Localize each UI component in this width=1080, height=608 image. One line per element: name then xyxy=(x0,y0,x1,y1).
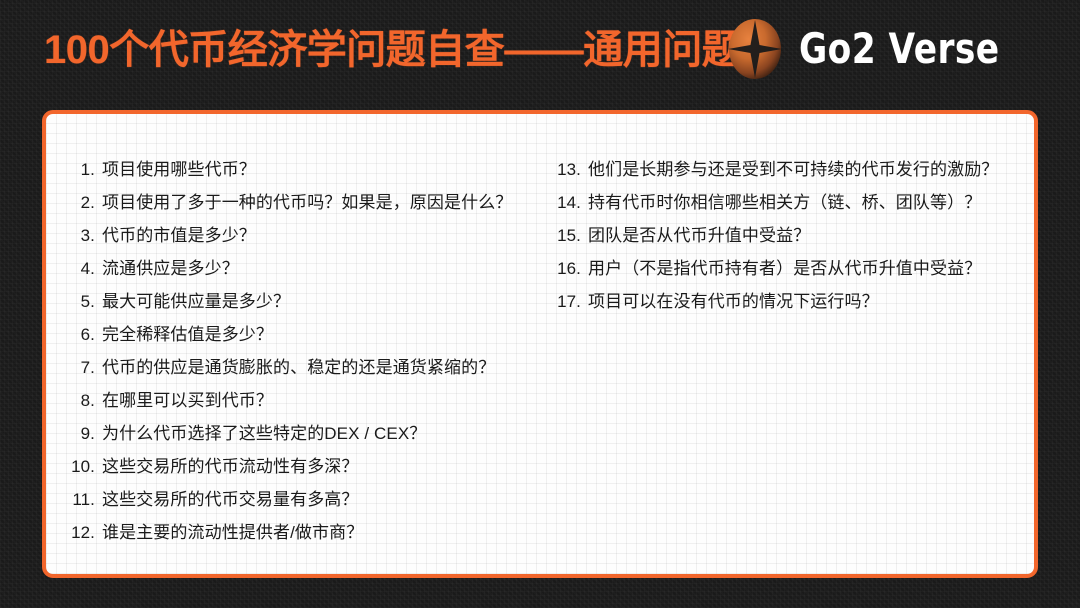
question-column-left: 1.项目使用哪些代币？2.项目使用了多于一种的代币吗？如果是，原因是什么？3.代… xyxy=(46,114,551,574)
orange-sphere-four-point-star-icon xyxy=(725,18,785,80)
question-item: 5.最大可能供应量是多少？ xyxy=(71,285,551,318)
question-number: 10. xyxy=(71,450,95,483)
question-text: 最大可能供应量是多少？ xyxy=(102,285,290,318)
question-item: 8.在哪里可以买到代币？ xyxy=(71,384,551,417)
question-number: 7. xyxy=(71,351,95,384)
page-title: 100个代币经济学问题自查——通用问题 xyxy=(44,25,741,75)
question-item: 3.代币的市值是多少？ xyxy=(71,219,551,252)
question-text: 完全稀释估值是多少？ xyxy=(102,318,273,351)
brand-name: Go2 Verse xyxy=(799,27,1000,71)
question-item: 15.团队是否从代币升值中受益？ xyxy=(557,219,1034,252)
question-item: 4.流通供应是多少？ xyxy=(71,252,551,285)
question-columns: 1.项目使用哪些代币？2.项目使用了多于一种的代币吗？如果是，原因是什么？3.代… xyxy=(46,114,1034,574)
question-text: 代币的供应是通货膨胀的、稳定的还是通货紧缩的？ xyxy=(102,351,495,384)
question-text: 他们是长期参与还是受到不可持续的代币发行的激励？ xyxy=(588,153,998,186)
question-card: 1.项目使用哪些代币？2.项目使用了多于一种的代币吗？如果是，原因是什么？3.代… xyxy=(42,110,1038,578)
question-text: 为什么代币选择了这些特定的DEX / CEX？ xyxy=(102,417,426,450)
question-number: 16. xyxy=(557,252,581,285)
question-text: 流通供应是多少？ xyxy=(102,252,239,285)
question-text: 代币的市值是多少？ xyxy=(102,219,256,252)
question-number: 2. xyxy=(71,186,95,219)
question-item: 14.持有代币时你相信哪些相关方（链、桥、团队等）？ xyxy=(557,186,1034,219)
question-column-right: 13.他们是长期参与还是受到不可持续的代币发行的激励？14.持有代币时你相信哪些… xyxy=(551,114,1034,574)
slide-header: 100个代币经济学问题自查——通用问题 Go2 Verse xyxy=(0,0,1080,104)
question-number: 12. xyxy=(71,516,95,549)
question-number: 3. xyxy=(71,219,95,252)
question-text: 这些交易所的代币交易量有多高？ xyxy=(102,483,359,516)
question-item: 7.代币的供应是通货膨胀的、稳定的还是通货紧缩的？ xyxy=(71,351,551,384)
question-item: 16.用户（不是指代币持有者）是否从代币升值中受益？ xyxy=(557,252,1034,285)
question-text: 在哪里可以买到代币？ xyxy=(102,384,273,417)
question-item: 17.项目可以在没有代币的情况下运行吗？ xyxy=(557,285,1034,318)
question-number: 4. xyxy=(71,252,95,285)
question-number: 17. xyxy=(557,285,581,318)
question-text: 持有代币时你相信哪些相关方（链、桥、团队等）？ xyxy=(588,186,981,219)
question-text: 谁是主要的流动性提供者/做市商？ xyxy=(102,516,363,549)
slide-root: 100个代币经济学问题自查——通用问题 Go2 Verse 1.项目使 xyxy=(0,0,1080,608)
question-item: 1.项目使用哪些代币？ xyxy=(71,153,551,186)
question-text: 用户（不是指代币持有者）是否从代币升值中受益？ xyxy=(588,252,981,285)
question-number: 11. xyxy=(71,483,95,516)
question-item: 2.项目使用了多于一种的代币吗？如果是，原因是什么？ xyxy=(71,186,551,219)
question-item: 12.谁是主要的流动性提供者/做市商？ xyxy=(71,516,551,549)
question-text: 项目可以在没有代币的情况下运行吗？ xyxy=(588,285,879,318)
question-number: 8. xyxy=(71,384,95,417)
question-number: 6. xyxy=(71,318,95,351)
question-item: 6.完全稀释估值是多少？ xyxy=(71,318,551,351)
question-item: 13.他们是长期参与还是受到不可持续的代币发行的激励？ xyxy=(557,153,1034,186)
question-number: 13. xyxy=(557,153,581,186)
question-text: 项目使用了多于一种的代币吗？如果是，原因是什么？ xyxy=(102,186,512,219)
question-number: 15. xyxy=(557,219,581,252)
question-number: 9. xyxy=(71,417,95,450)
question-text: 团队是否从代币升值中受益？ xyxy=(588,219,810,252)
question-number: 1. xyxy=(71,153,95,186)
question-text: 这些交易所的代币流动性有多深？ xyxy=(102,450,359,483)
question-item: 9.为什么代币选择了这些特定的DEX / CEX？ xyxy=(71,417,551,450)
question-number: 5. xyxy=(71,285,95,318)
question-number: 14. xyxy=(557,186,581,219)
question-text: 项目使用哪些代币？ xyxy=(102,153,256,186)
brand-lockup: Go2 Verse xyxy=(725,18,1044,80)
question-item: 10.这些交易所的代币流动性有多深？ xyxy=(71,450,551,483)
question-item: 11.这些交易所的代币交易量有多高？ xyxy=(71,483,551,516)
